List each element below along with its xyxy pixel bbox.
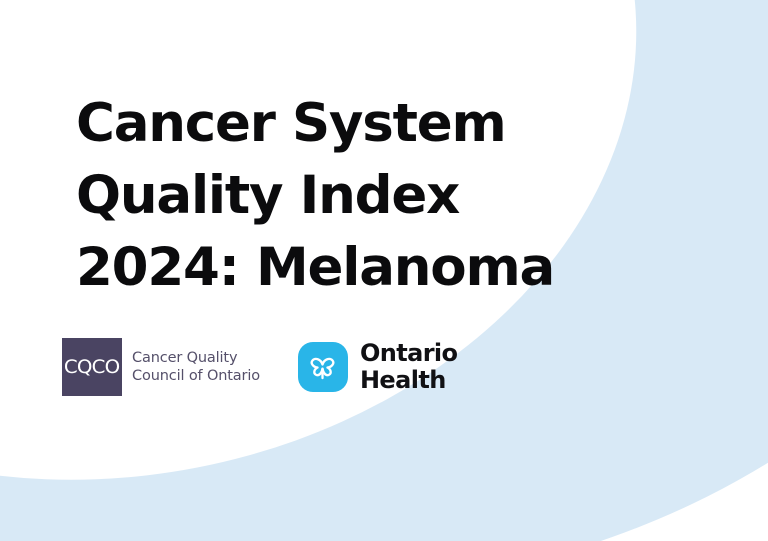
- cqco-name-line-1: Cancer Quality: [132, 349, 260, 367]
- ontario-health-name-line-2: Health: [360, 367, 458, 394]
- ontario-health-badge: [298, 342, 348, 392]
- cqco-logo: CQCO Cancer Quality Council of Ontario: [62, 338, 260, 396]
- trillium-icon: [307, 352, 338, 383]
- page-title: Cancer System Quality Index 2024: Melano…: [76, 88, 636, 304]
- title-slide: Cancer System Quality Index 2024: Melano…: [0, 0, 768, 541]
- ontario-health-name-line-1: Ontario: [360, 340, 458, 367]
- ontario-health-name: Ontario Health: [348, 340, 458, 394]
- ontario-health-logo: Ontario Health: [298, 338, 458, 396]
- logo-strip: CQCO Cancer Quality Council of Ontario O…: [62, 338, 457, 396]
- cqco-wordmark-icon: CQCO: [62, 338, 122, 396]
- cqco-name: Cancer Quality Council of Ontario: [122, 338, 260, 396]
- title-line-3: 2024: Melanoma: [76, 232, 636, 304]
- cqco-name-line-2: Council of Ontario: [132, 367, 260, 385]
- title-line-2: Quality Index: [76, 160, 636, 232]
- title-line-1: Cancer System: [76, 88, 636, 160]
- cqco-mark-label: CQCO: [64, 358, 119, 377]
